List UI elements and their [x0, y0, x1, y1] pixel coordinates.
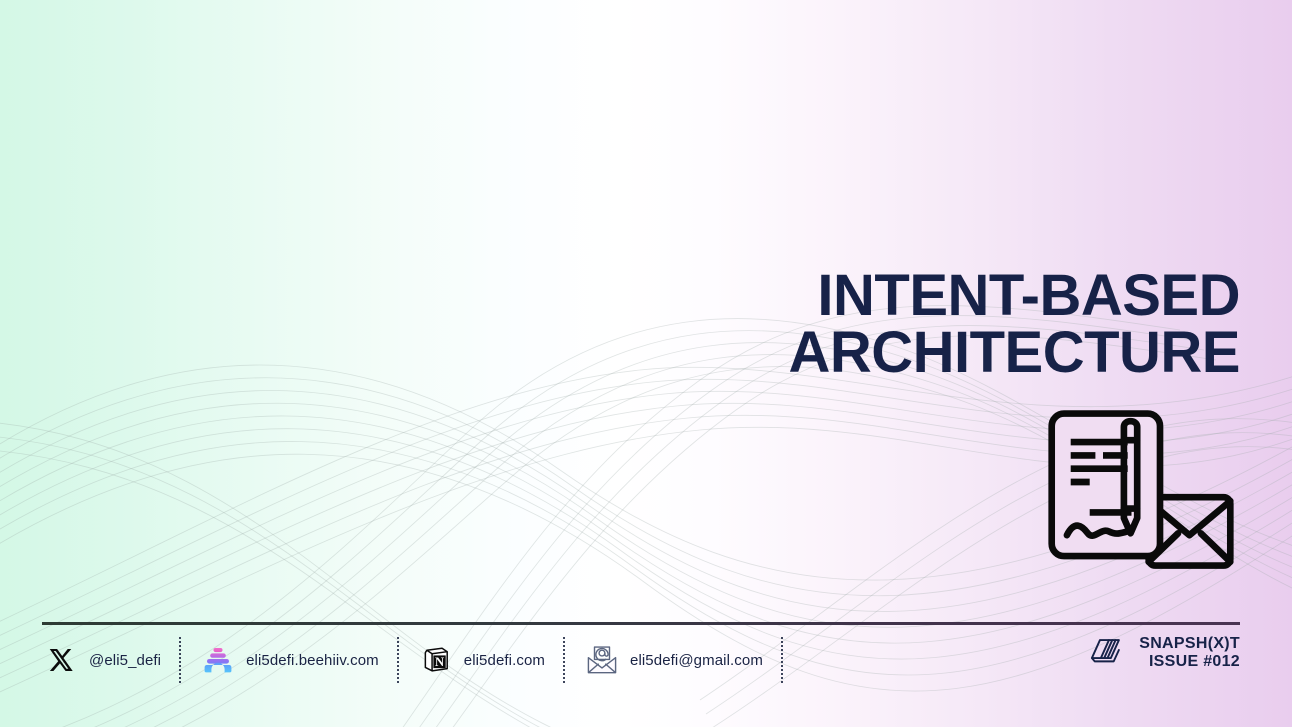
svg-text:N: N	[435, 655, 444, 669]
email-at-envelope-icon	[585, 643, 619, 677]
x-twitter-icon	[44, 643, 78, 677]
title-line-1: INTENT-BASED	[788, 268, 1240, 325]
brand-issue: ISSUE #012	[1139, 653, 1240, 671]
brand-name: SNAPSH(X)T	[1139, 635, 1240, 653]
stacked-pages-icon	[1089, 632, 1127, 673]
beehiiv-icon	[201, 643, 235, 677]
footer-separator	[397, 637, 399, 683]
footer-link-beehiiv[interactable]: eli5defi.beehiiv.com	[199, 637, 379, 683]
page-title: INTENT-BASED ARCHITECTURE	[788, 268, 1240, 382]
signed-document-with-envelope-icon	[1045, 406, 1237, 596]
brand-block: SNAPSH(X)T ISSUE #012	[1089, 632, 1240, 673]
footer-divider	[42, 622, 1240, 625]
footer-link-notion[interactable]: N eli5defi.com	[417, 637, 545, 683]
slide-canvas: INTENT-BASED ARCHITECTURE	[0, 0, 1292, 727]
title-line-2: ARCHITECTURE	[788, 325, 1240, 382]
footer-separator	[781, 637, 783, 683]
footer-link-x-twitter[interactable]: @eli5_defi	[42, 637, 161, 683]
footer-link-label: eli5defi.com	[464, 652, 545, 669]
footer-link-email[interactable]: eli5defi@gmail.com	[583, 637, 763, 683]
footer-separator	[179, 637, 181, 683]
notion-icon: N	[419, 643, 453, 677]
footer-link-label: eli5defi@gmail.com	[630, 652, 763, 669]
footer-separator	[563, 637, 565, 683]
footer-links: @eli5_defi	[42, 630, 801, 690]
brand-text: SNAPSH(X)T ISSUE #012	[1139, 635, 1240, 671]
footer-link-label: eli5defi.beehiiv.com	[246, 652, 379, 669]
footer-link-label: @eli5_defi	[89, 652, 161, 669]
